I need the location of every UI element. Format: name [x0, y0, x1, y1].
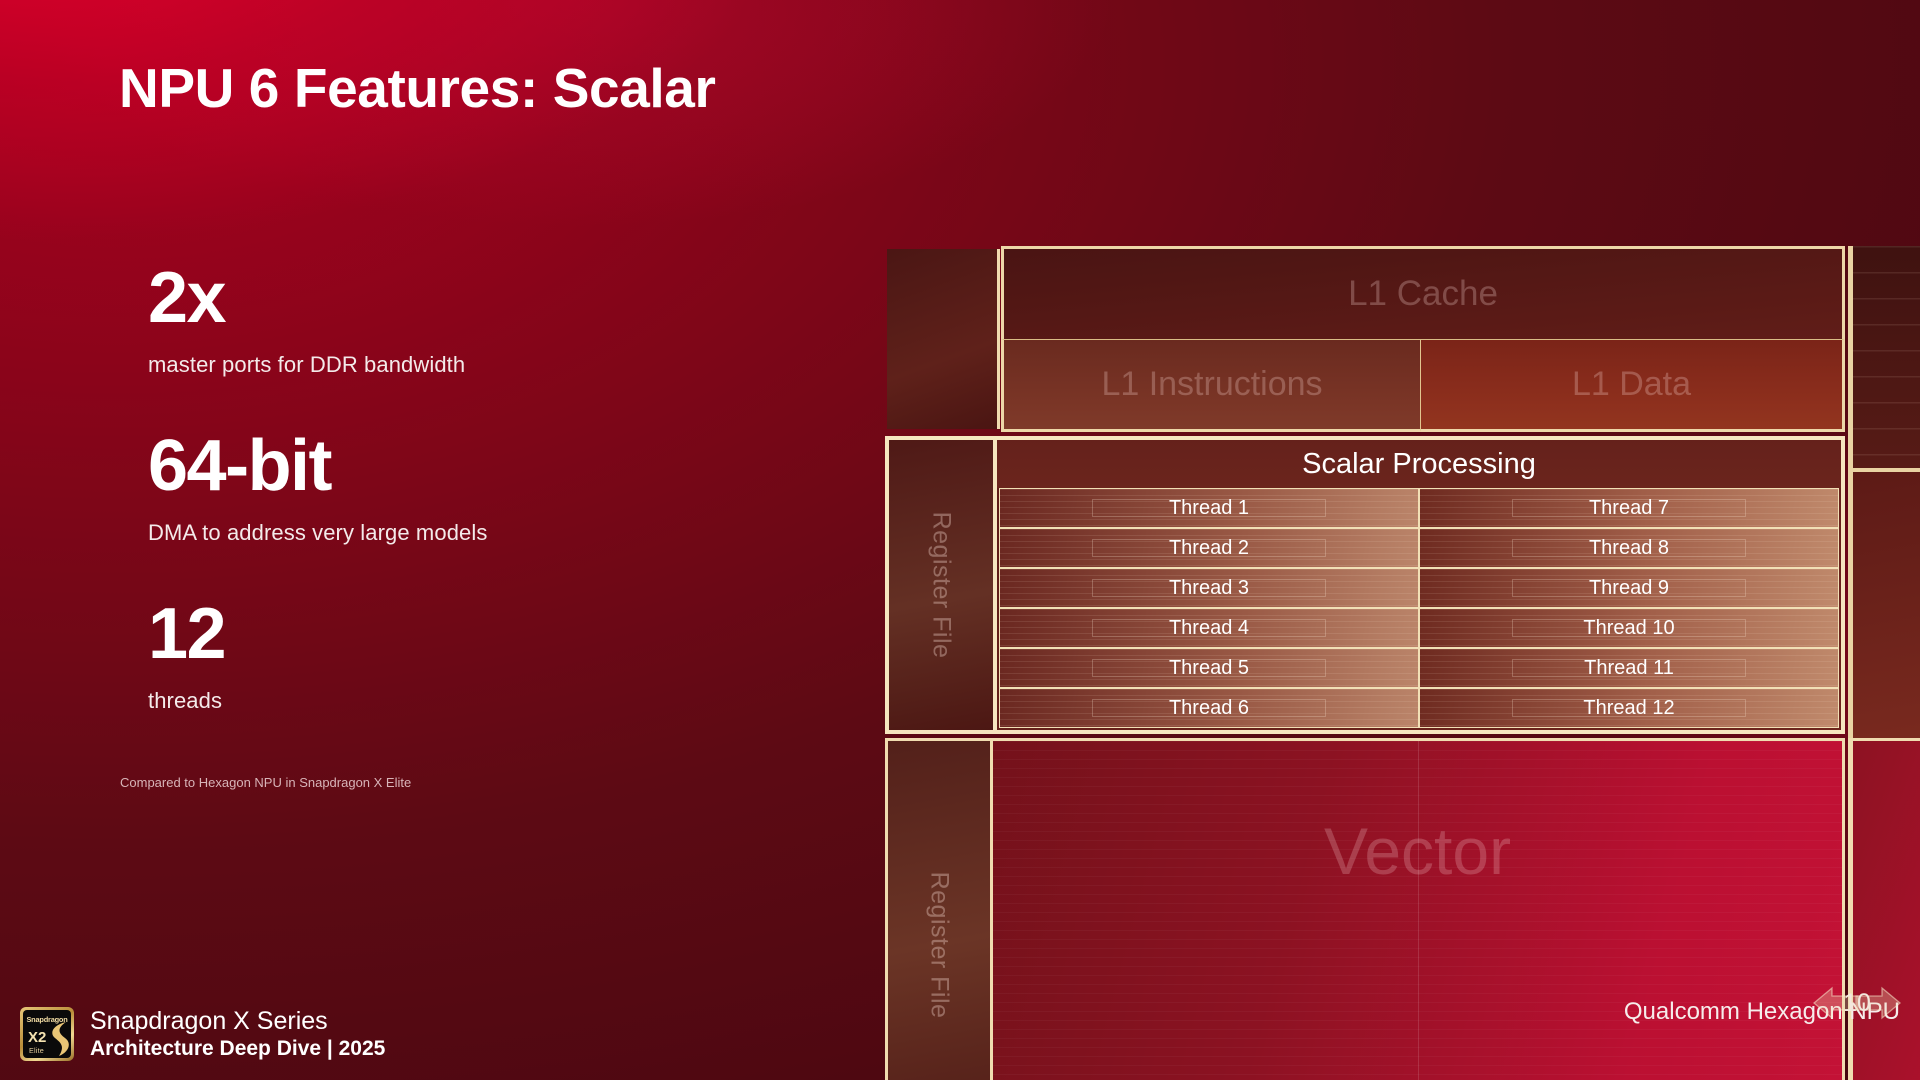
thread-grid: Thread 1 Thread 7 Thread 2 Thread 8 Thre…	[999, 488, 1839, 728]
l1-cache-group: L1 Cache L1 Instructions L1 Data	[885, 246, 1845, 432]
diagram-edge-block-bottom	[1848, 738, 1920, 1080]
page-navigation[interactable]: 10	[1802, 980, 1912, 1026]
register-file-top-panel	[887, 249, 1000, 429]
stat-value: 12	[148, 598, 487, 670]
thread-cell: Thread 10	[1419, 608, 1839, 648]
footer-text: Snapdragon X Series Architecture Deep Di…	[90, 1006, 385, 1062]
l1-cache-block: L1 Cache	[1001, 246, 1845, 340]
snapdragon-x2-elite-logo: Snapdragon X2 Elite	[20, 1007, 74, 1061]
scalar-processing-title: Scalar Processing	[997, 440, 1841, 488]
thread-cell: Thread 11	[1419, 648, 1839, 688]
slide-footer: Snapdragon X2 Elite Snapdragon X Series …	[20, 1006, 385, 1062]
thread-cell: Thread 5	[999, 648, 1419, 688]
register-file-scalar-panel: Register File	[889, 440, 997, 730]
stat-label: master ports for DDR bandwidth	[148, 352, 487, 378]
thread-cell: Thread 2	[999, 528, 1419, 568]
footer-line-1: Snapdragon X Series	[90, 1006, 385, 1037]
stat-value: 64-bit	[148, 430, 487, 502]
stat-label: threads	[148, 688, 487, 714]
hexagon-npu-diagram: L1 Cache L1 Instructions L1 Data Registe…	[885, 246, 1920, 1080]
page-number: 10	[1843, 989, 1871, 1018]
register-file-vector-label: Register File	[925, 871, 954, 1018]
l1-instructions-label: L1 Instructions	[1004, 340, 1420, 429]
l1-data-label: L1 Data	[1421, 340, 1842, 429]
thread-cell: Thread 12	[1419, 688, 1839, 728]
diagram-edge-block-mid	[1848, 468, 1920, 738]
stat-label: DMA to address very large models	[148, 520, 487, 546]
footnote: Compared to Hexagon NPU in Snapdragon X …	[120, 775, 411, 790]
stat-item: 2x master ports for DDR bandwidth	[148, 262, 487, 378]
vector-body: Vector	[993, 741, 1842, 1080]
thread-cell: Thread 7	[1419, 488, 1839, 528]
thread-cell: Thread 3	[999, 568, 1419, 608]
thread-cell: Thread 6	[999, 688, 1419, 728]
page-title: NPU 6 Features: Scalar	[119, 56, 715, 120]
vector-group: Register File Vector	[885, 738, 1845, 1080]
stat-item: 64-bit DMA to address very large models	[148, 430, 487, 546]
slide-canvas: NPU 6 Features: Scalar 2x master ports f…	[0, 0, 1920, 1080]
stats-list: 2x master ports for DDR bandwidth 64-bit…	[148, 262, 487, 766]
l1-data-block: L1 Data	[1421, 340, 1845, 432]
vector-label: Vector	[993, 813, 1842, 889]
snapdragon-swirl-icon	[43, 1019, 71, 1058]
stat-item: 12 threads	[148, 598, 487, 714]
register-file-vector-panel: Register File	[888, 741, 993, 1080]
stat-value: 2x	[148, 262, 487, 334]
footer-line-2: Architecture Deep Dive | 2025	[90, 1036, 385, 1062]
thread-cell: Thread 4	[999, 608, 1419, 648]
register-file-scalar-label: Register File	[927, 512, 956, 659]
thread-cell: Thread 8	[1419, 528, 1839, 568]
thread-cell: Thread 1	[999, 488, 1419, 528]
diagram-edge-block-top	[1848, 246, 1920, 468]
logo-tier-text: Elite	[29, 1046, 44, 1055]
scalar-processing-group: Register File Scalar Processing Thread 1…	[885, 436, 1845, 734]
l1-instructions-block: L1 Instructions	[1001, 340, 1421, 432]
thread-cell: Thread 9	[1419, 568, 1839, 608]
l1-cache-label: L1 Cache	[1004, 249, 1842, 339]
